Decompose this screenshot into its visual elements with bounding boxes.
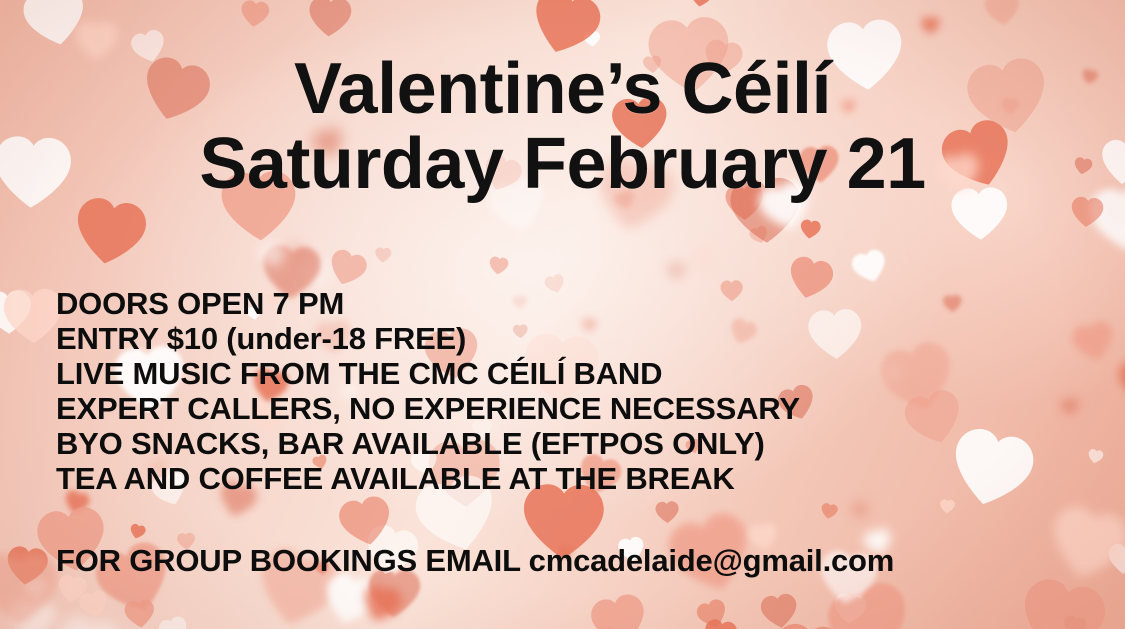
event-detail-row: DOORS OPEN 7 PM [56,286,800,321]
poster-content: Valentine’s Céilí Saturday February 21 D… [0,0,1125,629]
event-detail-row: BYO SNACKS, BAR AVAILABLE (EFTPOS ONLY) [56,426,800,461]
title-line-2: Saturday February 21 [0,127,1125,202]
event-detail-row: LIVE MUSIC FROM THE CMC CÉILÍ BAND [56,356,800,391]
event-detail-row: ENTRY $10 (under-18 FREE) [56,321,800,356]
poster-title: Valentine’s Céilí Saturday February 21 [0,52,1125,202]
event-detail-row: EXPERT CALLERS, NO EXPERIENCE NECESSARY [56,391,800,426]
event-details-list: DOORS OPEN 7 PMENTRY $10 (under-18 FREE)… [56,286,800,496]
valentines-ceili-poster: Valentine’s Céilí Saturday February 21 D… [0,0,1125,629]
title-line-1: Valentine’s Céilí [0,52,1125,127]
booking-contact-line: FOR GROUP BOOKINGS EMAIL cmcadelaide@gma… [56,543,894,579]
event-detail-row: TEA AND COFFEE AVAILABLE AT THE BREAK [56,461,800,496]
